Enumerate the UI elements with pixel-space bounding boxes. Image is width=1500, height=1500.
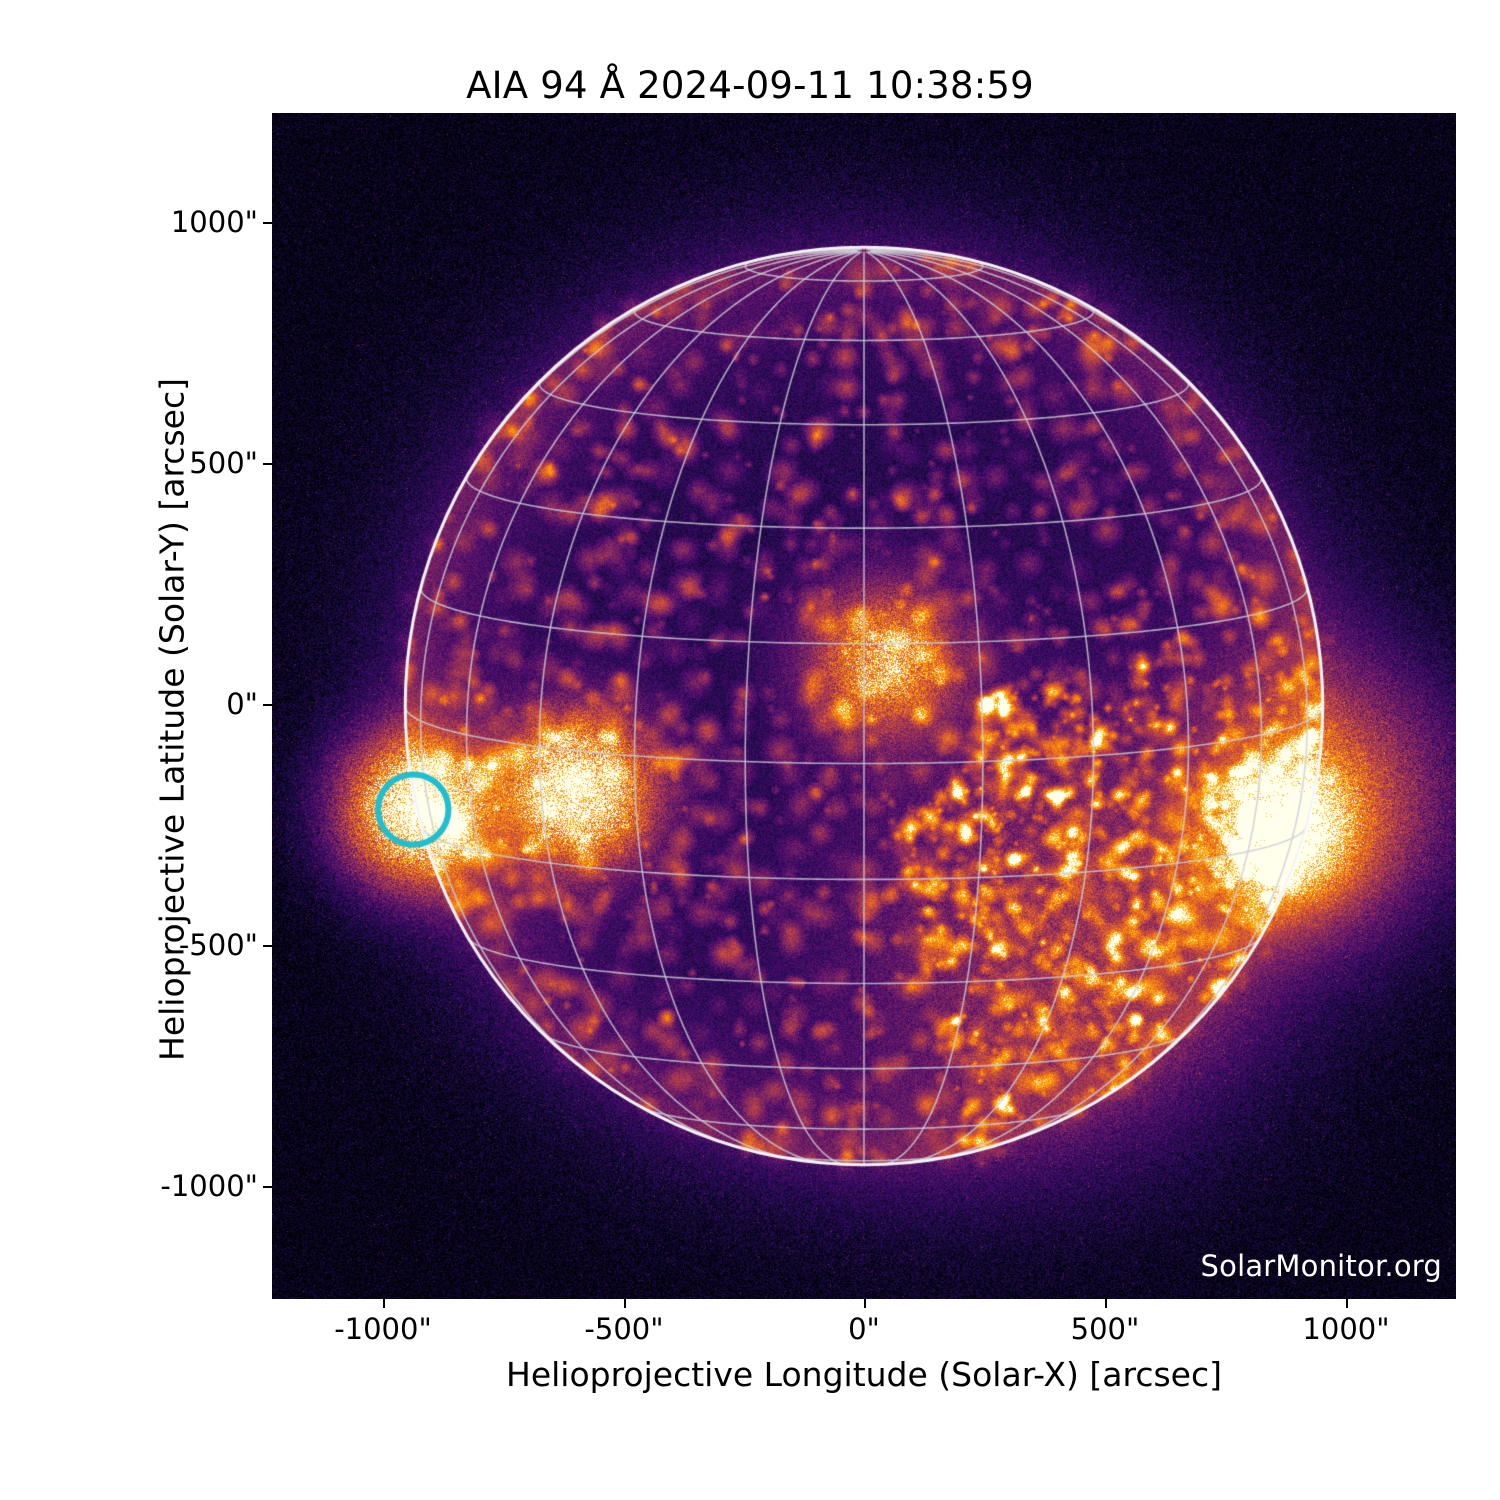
y-tick-label: 0" bbox=[226, 687, 258, 721]
watermark-label: SolarMonitor.org bbox=[1201, 1249, 1442, 1283]
x-tick-label: -500" bbox=[524, 1312, 724, 1346]
x-tick-mark bbox=[383, 1299, 385, 1308]
x-tick-mark bbox=[864, 1299, 866, 1308]
y-tick-mark bbox=[263, 463, 272, 465]
x-tick-label: 0" bbox=[764, 1312, 964, 1346]
y-tick-mark bbox=[263, 222, 272, 224]
y-tick-label: 500" bbox=[189, 446, 258, 480]
y-tick-mark bbox=[263, 704, 272, 706]
solar-image-panel: SolarMonitor.org bbox=[272, 113, 1456, 1299]
x-tick-mark bbox=[1105, 1299, 1107, 1308]
x-tick-label: 1000" bbox=[1246, 1312, 1446, 1346]
x-tick-label: -1000" bbox=[283, 1312, 483, 1346]
x-tick-label: 500" bbox=[1005, 1312, 1205, 1346]
figure-root: AIA 94 Å 2024-09-11 10:38:59 SolarMonito… bbox=[0, 0, 1500, 1500]
y-axis-label: Helioprojective Latitude (Solar-Y) [arcs… bbox=[153, 127, 192, 1313]
x-tick-mark bbox=[624, 1299, 626, 1308]
y-tick-mark bbox=[263, 1186, 272, 1188]
page-title: AIA 94 Å 2024-09-11 10:38:59 bbox=[0, 64, 1500, 107]
x-axis-label: Helioprojective Longitude (Solar-X) [arc… bbox=[272, 1355, 1456, 1394]
aia-94-image bbox=[272, 113, 1456, 1299]
y-tick-mark bbox=[263, 945, 272, 947]
x-tick-mark bbox=[1346, 1299, 1348, 1308]
